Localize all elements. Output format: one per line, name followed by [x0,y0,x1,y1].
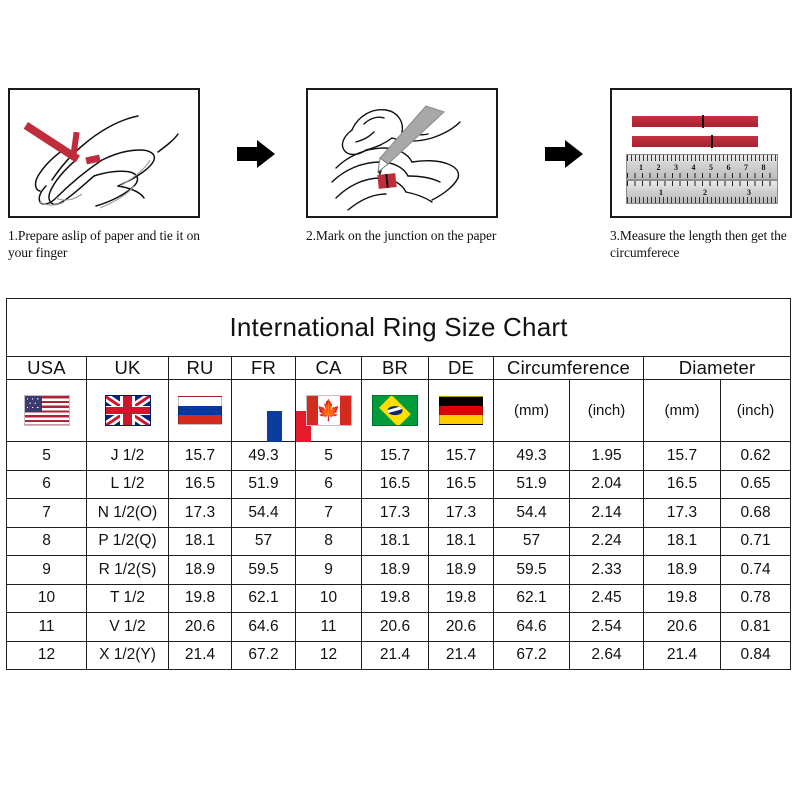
cell-de: 18.1 [429,527,494,556]
paper-strip-2 [632,136,758,147]
cell-circ-mm: 64.6 [494,613,570,642]
table-row: 8 P 1/2(Q) 18.1 57 8 18.1 18.1 57 2.24 1… [7,527,791,556]
ruler-bottom-number: 1 [659,188,663,197]
flag-canada-icon: 🍁 [306,395,352,426]
cell-circ-inch: 2.45 [570,584,644,613]
cell-uk: N 1/2(O) [87,499,169,528]
flag-germany-icon [439,396,483,425]
step-3: 12345678 123 3.Measure the length then g… [610,88,792,262]
cell-circ-mm: 54.4 [494,499,570,528]
cell-usa: 5 [7,442,87,471]
ring-size-chart: International Ring Size Chart USA UK RU … [6,298,790,670]
cell-circ-inch: 2.14 [570,499,644,528]
step-1-caption: 1.Prepare aslip of paper and tie it on y… [8,227,200,262]
cell-de: 15.7 [429,442,494,471]
column-header-br: BR [362,357,429,380]
column-header-de: DE [429,357,494,380]
cell-ru: 16.5 [169,470,232,499]
ruler-top-number: 8 [762,163,766,172]
cell-br: 16.5 [362,470,429,499]
ruler-top-number: 5 [709,163,713,172]
ruler-top-number: 6 [727,163,731,172]
cell-ru: 15.7 [169,442,232,471]
step-3-illustration: 12345678 123 [610,88,792,218]
column-header-usa: USA [7,357,87,380]
flag-cell-br [362,380,429,442]
hand-drawing-icon [10,90,200,218]
cell-diam-mm: 16.5 [644,470,721,499]
table-row: 11 V 1/2 20.6 64.6 11 20.6 20.6 64.6 2.5… [7,613,791,642]
cell-diam-inch: 0.78 [721,584,791,613]
cell-circ-mm: 59.5 [494,556,570,585]
table-row: 5 J 1/2 15.7 49.3 5 15.7 15.7 49.3 1.95 … [7,442,791,471]
paper-strip-2-mark [711,135,713,148]
step-1: 1.Prepare aslip of paper and tie it on y… [8,88,200,262]
step-3-caption: 3.Measure the length then get the circum… [610,227,792,262]
cell-ca: 7 [296,499,362,528]
cell-de: 18.9 [429,556,494,585]
column-header-fr: FR [232,357,296,380]
ruler-top-number: 1 [639,163,643,172]
cell-ca: 8 [296,527,362,556]
cell-ca: 10 [296,584,362,613]
cell-ca: 9 [296,556,362,585]
cell-circ-inch: 2.33 [570,556,644,585]
cell-ca: 5 [296,442,362,471]
cell-fr: 57 [232,527,296,556]
unit-diameter-inch: (inch) [721,380,791,442]
cell-ru: 17.3 [169,499,232,528]
cell-de: 17.3 [429,499,494,528]
paper-strip-1 [632,116,758,127]
cell-diam-mm: 21.4 [644,641,721,670]
step-2-illustration [306,88,498,218]
cell-ru: 18.9 [169,556,232,585]
cell-diam-inch: 0.74 [721,556,791,585]
cell-br: 18.9 [362,556,429,585]
cell-de: 16.5 [429,470,494,499]
ring-size-table: International Ring Size Chart USA UK RU … [6,298,791,670]
cell-ru: 21.4 [169,641,232,670]
flag-cell-fr [232,380,296,442]
cell-usa: 10 [7,584,87,613]
cell-uk: L 1/2 [87,470,169,499]
cell-fr: 54.4 [232,499,296,528]
table-title-row: International Ring Size Chart [7,299,791,357]
cell-diam-inch: 0.68 [721,499,791,528]
cell-usa: 11 [7,613,87,642]
step-2: 2.Mark on the junction on the paper [306,88,498,244]
cell-circ-mm: 49.3 [494,442,570,471]
cell-circ-inch: 1.95 [570,442,644,471]
cell-diam-mm: 15.7 [644,442,721,471]
flag-cell-usa [7,380,87,442]
cell-circ-mm: 51.9 [494,470,570,499]
cell-br: 17.3 [362,499,429,528]
cell-fr: 62.1 [232,584,296,613]
cell-br: 18.1 [362,527,429,556]
cell-diam-mm: 17.3 [644,499,721,528]
step-1-illustration [8,88,200,218]
table-group-header-row: USA UK RU FR CA BR DE Circumference Diam… [7,357,791,380]
table-row: 10 T 1/2 19.8 62.1 10 19.8 19.8 62.1 2.4… [7,584,791,613]
unit-circumference-mm: (mm) [494,380,570,442]
cell-diam-mm: 18.9 [644,556,721,585]
cell-circ-mm: 67.2 [494,641,570,670]
cell-usa: 8 [7,527,87,556]
unit-diameter-mm: (mm) [644,380,721,442]
cell-diam-inch: 0.71 [721,527,791,556]
cell-ca: 11 [296,613,362,642]
cell-usa: 6 [7,470,87,499]
cell-br: 20.6 [362,613,429,642]
unit-circumference-inch: (inch) [570,380,644,442]
table-row: 7 N 1/2(O) 17.3 54.4 7 17.3 17.3 54.4 2.… [7,499,791,528]
cell-diam-mm: 18.1 [644,527,721,556]
cell-fr: 51.9 [232,470,296,499]
cell-diam-mm: 20.6 [644,613,721,642]
cell-br: 15.7 [362,442,429,471]
column-header-uk: UK [87,357,169,380]
cell-br: 19.8 [362,584,429,613]
step-2-caption: 2.Mark on the junction on the paper [306,227,498,244]
cell-de: 21.4 [429,641,494,670]
cell-circ-inch: 2.04 [570,470,644,499]
cell-uk: J 1/2 [87,442,169,471]
flag-cell-ru [169,380,232,442]
cell-diam-inch: 0.65 [721,470,791,499]
cell-usa: 9 [7,556,87,585]
cell-ru: 19.8 [169,584,232,613]
flag-cell-de [429,380,494,442]
column-header-ca: CA [296,357,362,380]
cell-diam-inch: 0.62 [721,442,791,471]
cell-uk: T 1/2 [87,584,169,613]
cell-de: 20.6 [429,613,494,642]
cell-uk: V 1/2 [87,613,169,642]
cell-fr: 59.5 [232,556,296,585]
instruction-steps: 1.Prepare aslip of paper and tie it on y… [0,0,800,288]
cell-usa: 7 [7,499,87,528]
flag-russia-icon [178,396,222,425]
cell-circ-mm: 62.1 [494,584,570,613]
flag-usa-icon [24,395,70,426]
column-header-diameter: Diameter [644,357,791,380]
cell-diam-inch: 0.84 [721,641,791,670]
flag-brazil-icon [372,395,418,426]
cell-de: 19.8 [429,584,494,613]
table-row: 9 R 1/2(S) 18.9 59.5 9 18.9 18.9 59.5 2.… [7,556,791,585]
ruler-bottom: 123 [626,180,778,204]
cell-ru: 20.6 [169,613,232,642]
cell-fr: 67.2 [232,641,296,670]
ruler-bottom-number: 2 [703,188,707,197]
cell-ca: 12 [296,641,362,670]
cell-diam-mm: 19.8 [644,584,721,613]
column-header-circumference: Circumference [494,357,644,380]
ruler-top-number: 3 [674,163,678,172]
cell-fr: 64.6 [232,613,296,642]
ruler-top: 12345678 [626,154,778,180]
cell-ru: 18.1 [169,527,232,556]
flag-cell-uk [87,380,169,442]
cell-uk: X 1/2(Y) [87,641,169,670]
cell-fr: 49.3 [232,442,296,471]
flag-uk-icon [105,395,151,426]
hand-marking-drawing-icon [308,90,498,218]
cell-circ-inch: 2.64 [570,641,644,670]
paper-strip-1-mark [702,115,704,128]
cell-br: 21.4 [362,641,429,670]
ruler-top-number: 7 [744,163,748,172]
cell-ca: 6 [296,470,362,499]
table-flag-unit-row: 🍁 (mm) (inch) (mm) (inch) [7,380,791,442]
cell-circ-mm: 57 [494,527,570,556]
cell-uk: P 1/2(Q) [87,527,169,556]
table-row: 6 L 1/2 16.5 51.9 6 16.5 16.5 51.9 2.04 … [7,470,791,499]
ruler-bottom-number: 3 [747,188,751,197]
cell-usa: 12 [7,641,87,670]
ruler-top-number: 4 [692,163,696,172]
cell-circ-inch: 2.54 [570,613,644,642]
cell-uk: R 1/2(S) [87,556,169,585]
column-header-ru: RU [169,357,232,380]
page-title: International Ring Size Chart [7,299,791,357]
ruler-top-number: 2 [657,163,661,172]
cell-diam-inch: 0.81 [721,613,791,642]
cell-circ-inch: 2.24 [570,527,644,556]
table-row: 12 X 1/2(Y) 21.4 67.2 12 21.4 21.4 67.2 … [7,641,791,670]
